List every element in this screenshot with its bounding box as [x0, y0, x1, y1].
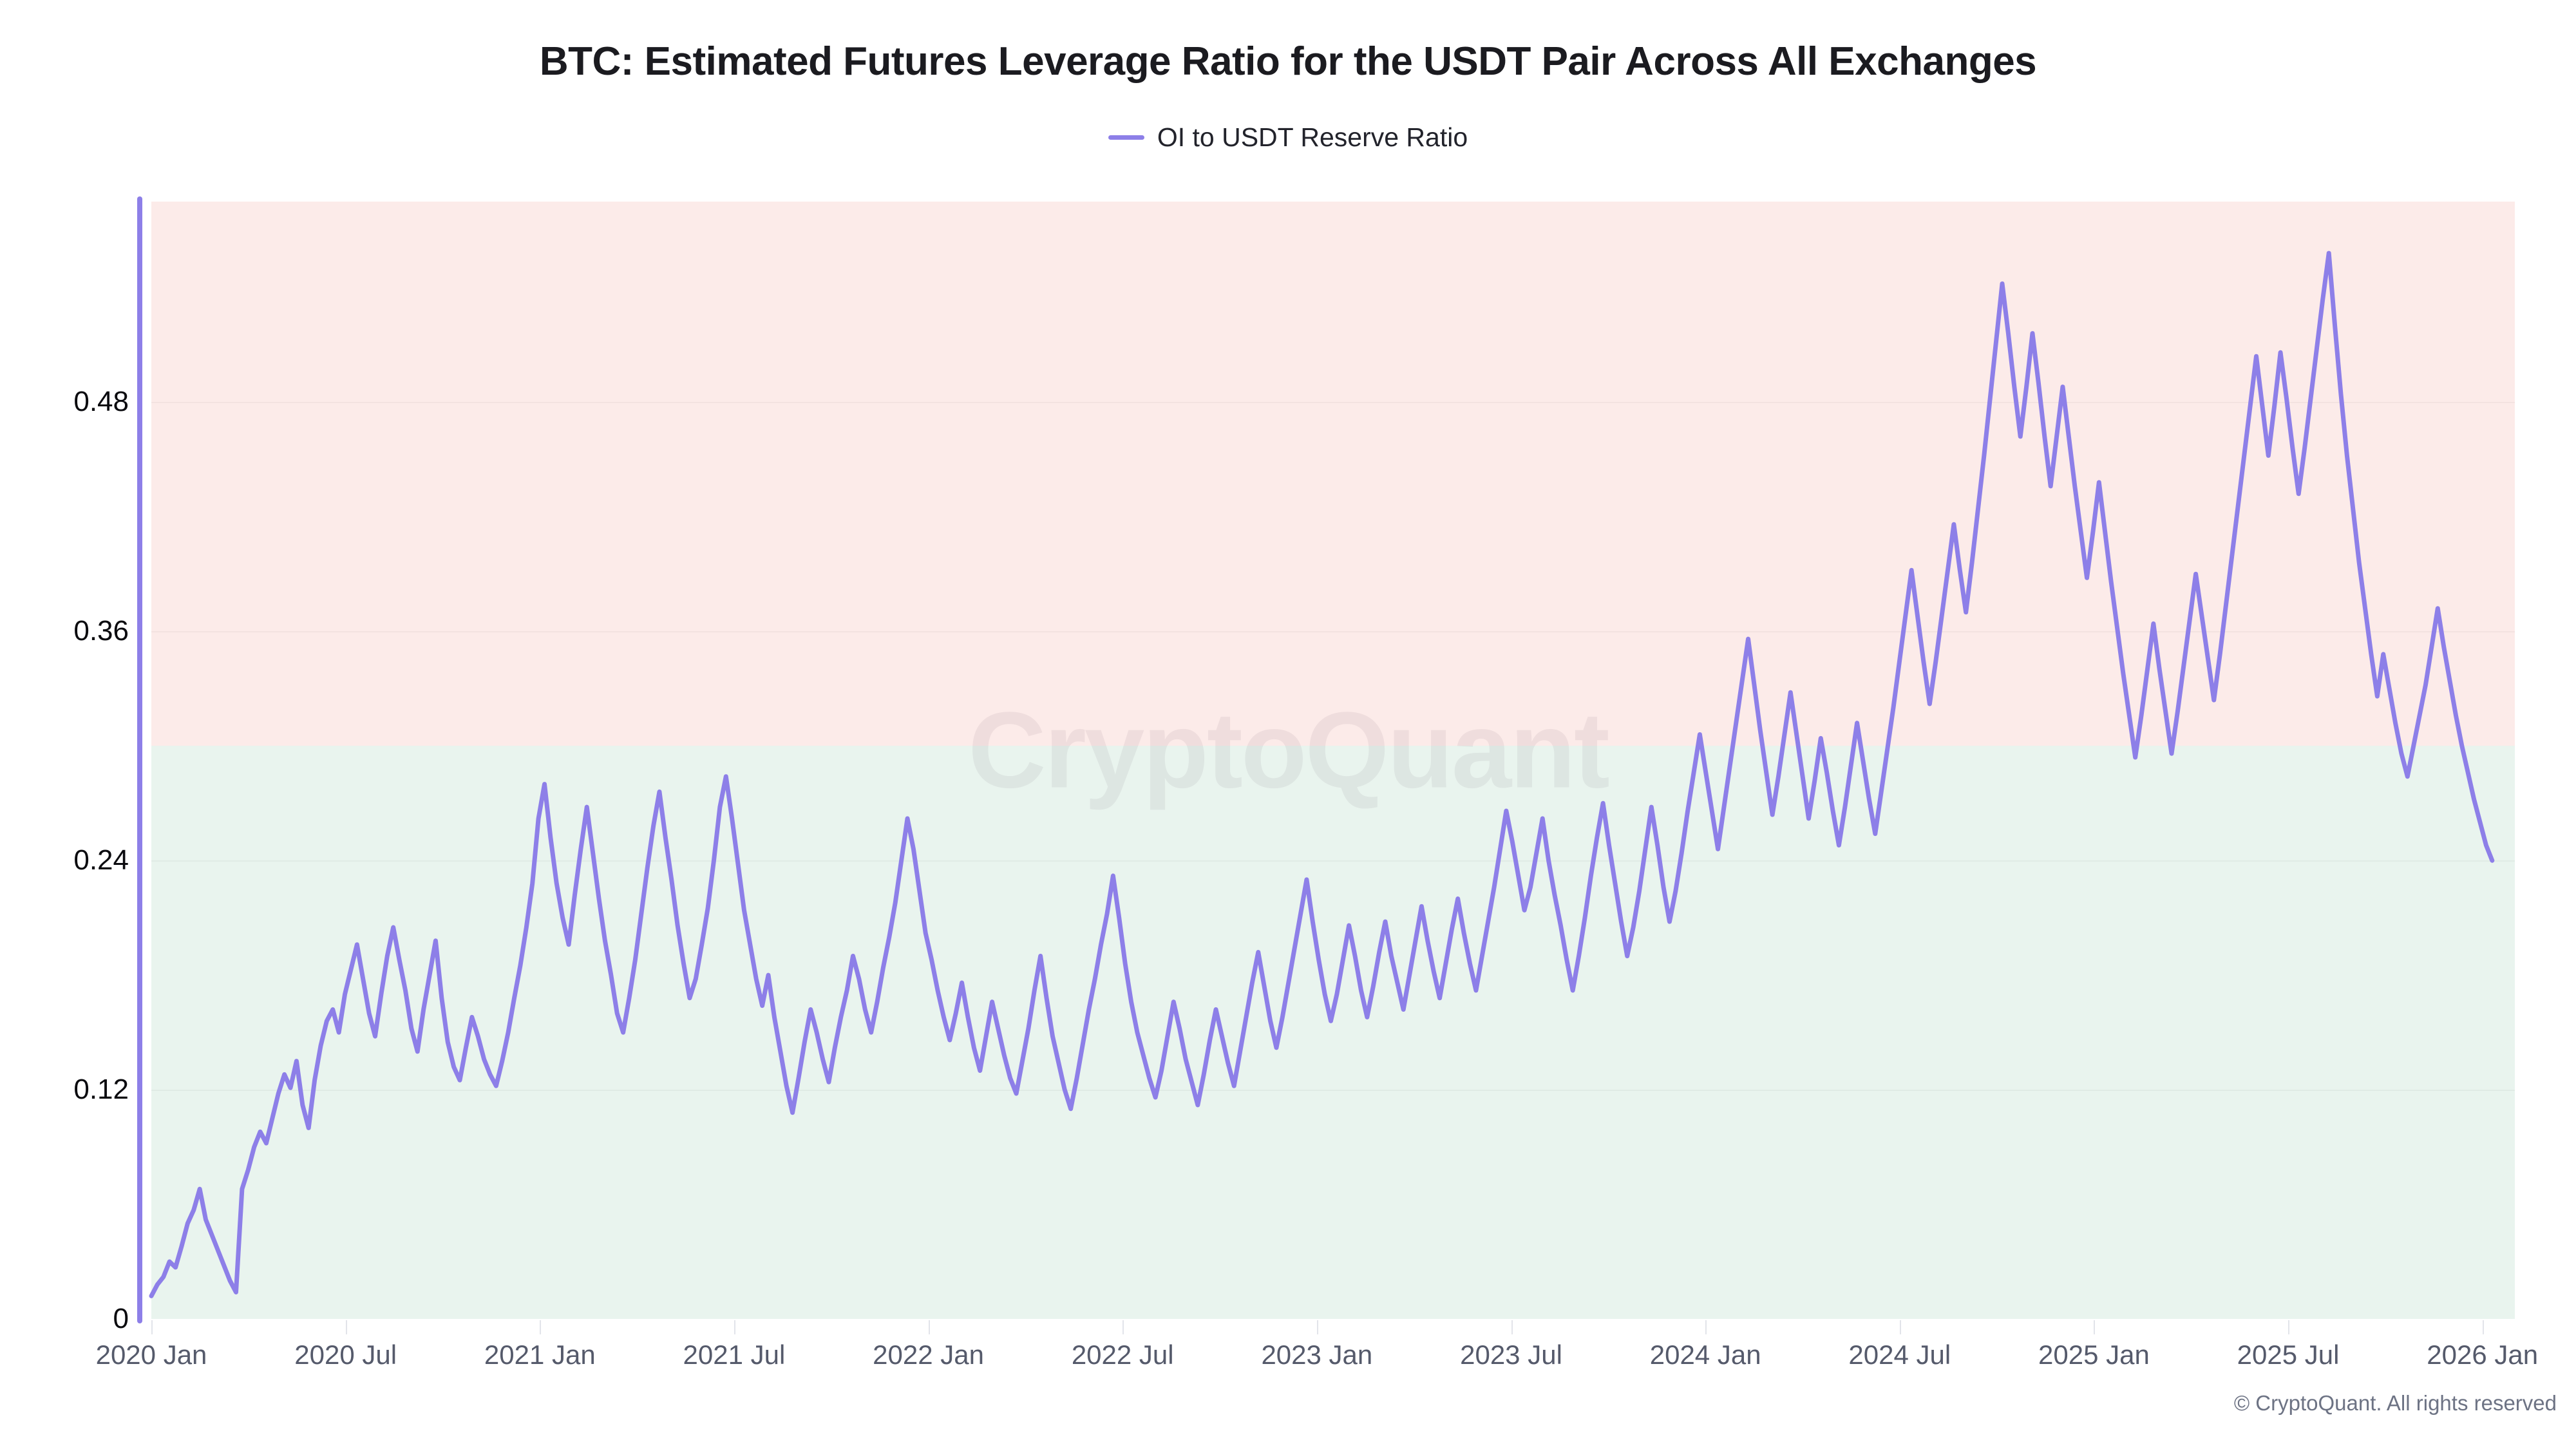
x-tick-label: 2025 Jul — [2237, 1340, 2340, 1370]
x-tick-mark — [2094, 1320, 2095, 1334]
x-tick-label: 2022 Jul — [1072, 1340, 1174, 1370]
x-tick-mark — [1122, 1320, 1124, 1334]
x-tick-mark — [540, 1320, 541, 1334]
x-tick-mark — [1705, 1320, 1707, 1334]
x-tick-label: 2026 Jan — [2427, 1340, 2538, 1370]
x-tick-label: 2021 Jan — [484, 1340, 596, 1370]
x-tick-mark — [1511, 1320, 1513, 1334]
x-tick-mark — [2288, 1320, 2289, 1334]
x-tick-label: 2020 Jul — [294, 1340, 397, 1370]
x-tick-label: 2021 Jul — [683, 1340, 786, 1370]
x-tick-mark — [346, 1320, 347, 1334]
x-tick-label: 2020 Jan — [96, 1340, 207, 1370]
x-tick-mark — [929, 1320, 930, 1334]
chart-root: BTC: Estimated Futures Leverage Ratio fo… — [0, 0, 2576, 1449]
x-tick-label: 2023 Jul — [1460, 1340, 1562, 1370]
x-tick-label: 2024 Jan — [1650, 1340, 1761, 1370]
x-axis-tick-labels: 2020 Jan2020 Jul2021 Jan2021 Jul2022 Jan… — [0, 0, 2576, 1449]
footer-credit: © CryptoQuant. All rights reserved — [2234, 1391, 2557, 1416]
x-tick-label: 2023 Jan — [1261, 1340, 1372, 1370]
x-tick-mark — [151, 1320, 153, 1334]
x-tick-label: 2025 Jan — [2038, 1340, 2150, 1370]
x-tick-mark — [2483, 1320, 2484, 1334]
x-tick-label: 2022 Jan — [873, 1340, 984, 1370]
x-tick-mark — [734, 1320, 735, 1334]
x-tick-mark — [1317, 1320, 1318, 1334]
x-tick-label: 2024 Jul — [1848, 1340, 1951, 1370]
x-tick-mark — [1900, 1320, 1901, 1334]
